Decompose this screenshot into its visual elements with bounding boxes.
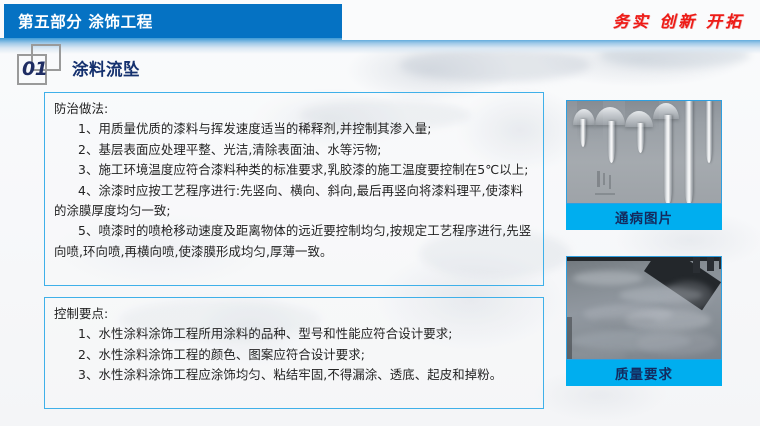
- control-item: 1、水性涂料涂饰工程所用涂料的品种、型号和性能应符合设计要求;: [54, 324, 534, 344]
- header-bar: 第五部分 涂饰工程: [4, 4, 342, 38]
- defect-photo-image: [567, 101, 721, 203]
- prevention-item: 5、喷漆时的喷枪移动速度及距离物体的远近要控制均匀,按规定工艺程序进行,先竖向喷…: [54, 221, 534, 262]
- defect-photo-frame: [566, 100, 722, 204]
- prevention-item: 2、基层表面应处理平整、光洁,清除表面油、水等污物;: [54, 140, 534, 160]
- defect-photo-caption: 通病图片: [566, 204, 722, 230]
- control-points-box: 控制要点: 1、水性涂料涂饰工程所用涂料的品种、型号和性能应符合设计要求; 2、…: [44, 297, 544, 409]
- header-gradient-fade: [0, 38, 760, 54]
- quality-photo-image: [567, 257, 721, 359]
- quality-photo-caption: 质量要求: [566, 360, 722, 386]
- prevention-methods-box: 防治做法: 1、用质量优质的漆料与挥发速度适当的稀释剂,并控制其渗入量; 2、基…: [44, 92, 544, 286]
- slide-canvas: 第五部分 涂饰工程 务实 创新 开拓 01 涂料流坠 防治做法: 1、用质量优质…: [0, 0, 760, 426]
- prevention-item: 3、施工环境温度应符合漆料种类的标准要求,乳胶漆的施工温度要控制在5℃以上;: [54, 160, 534, 180]
- control-item: 3、水性涂料涂饰工程应涂饰均匀、粘结牢固,不得漏涂、透底、起皮和掉粉。: [54, 365, 534, 385]
- header-bar-title: 第五部分 涂饰工程: [18, 10, 153, 32]
- defect-photo-card: 通病图片: [566, 100, 722, 232]
- prevention-heading: 防治做法:: [54, 99, 534, 119]
- prevention-item: 4、涂漆时应按工艺程序进行:先竖向、横向、斜向,最后再竖向将漆料理平,使漆料的涂…: [54, 181, 534, 222]
- control-heading: 控制要点:: [54, 304, 534, 324]
- section-number-badge: 01: [14, 44, 68, 88]
- page-title: 涂料流坠: [72, 56, 140, 80]
- prevention-item: 1、用质量优质的漆料与挥发速度适当的稀释剂,并控制其渗入量;: [54, 119, 534, 139]
- badge-number-label: 01: [22, 58, 66, 80]
- quality-photo-frame: [566, 256, 722, 360]
- quality-photo-card: 质量要求: [566, 256, 722, 388]
- control-item: 2、水性涂料涂饰工程的颜色、图案应符合设计要求;: [54, 345, 534, 365]
- slogan-text: 务实 创新 开拓: [613, 8, 744, 32]
